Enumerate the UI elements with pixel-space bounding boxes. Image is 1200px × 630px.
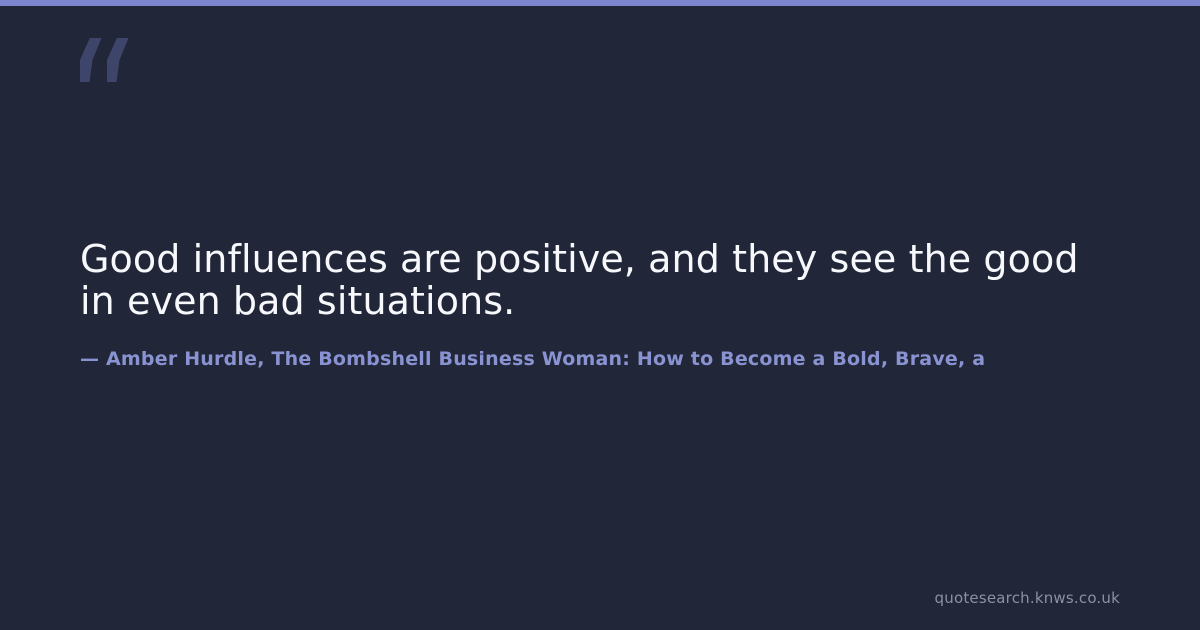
top-accent-bar: [0, 0, 1200, 6]
site-watermark: quotesearch.knws.co.uk: [935, 588, 1120, 608]
quote-card: Good influences are positive, and they s…: [0, 0, 1200, 630]
attribution-dash: —: [80, 348, 99, 370]
attribution-author-source: Amber Hurdle, The Bombshell Business Wom…: [106, 348, 985, 370]
quote-attribution: — Amber Hurdle, The Bombshell Business W…: [80, 345, 1200, 373]
quote-text: Good influences are positive, and they s…: [80, 238, 1120, 322]
double-quote-icon: [80, 38, 132, 82]
